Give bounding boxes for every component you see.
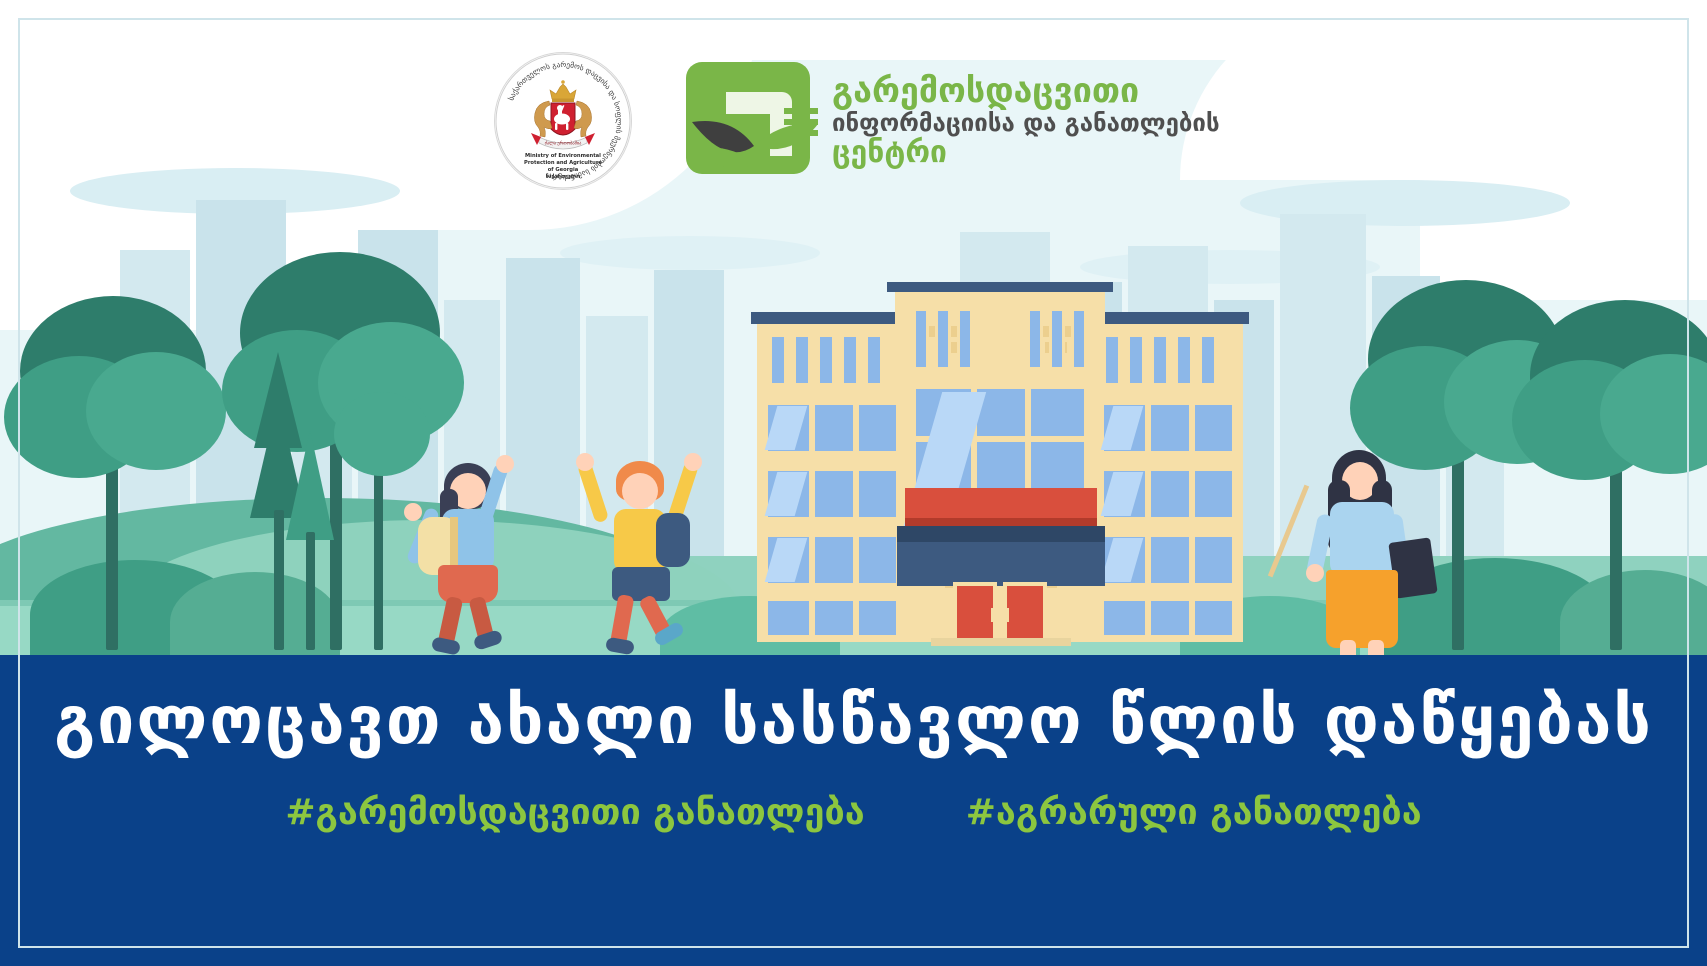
- school-window: [769, 334, 787, 386]
- school-window: [957, 308, 973, 370]
- portico-shadow: [897, 526, 1105, 542]
- window-mullion: [809, 534, 815, 586]
- poster-headline: გილოცავთ ახალი სასწავლო წლის დაწყებას: [0, 686, 1707, 755]
- school-window: [1127, 334, 1145, 386]
- school-window: [1071, 308, 1087, 370]
- window-mullion: [1145, 534, 1151, 586]
- teacher-with-folder: [1300, 440, 1470, 660]
- window-mullion: [853, 468, 859, 520]
- center-logo: გარემოსდაცვითი ინფორმაციისა და განათლები…: [686, 56, 1116, 184]
- window-mullion: [809, 402, 815, 454]
- school-window: [817, 334, 835, 386]
- entrance-steps: [931, 638, 1071, 646]
- window-mullion: [809, 598, 815, 638]
- boy-backpack: [656, 513, 690, 567]
- boy-hand-right: [684, 453, 702, 471]
- conifer-tree: [286, 430, 334, 540]
- svg-text:საქართველო: საქართველო: [546, 173, 580, 180]
- tree-trunk: [306, 532, 315, 650]
- cloud-band-3: [560, 236, 820, 270]
- window-mullion: [809, 468, 815, 520]
- school-window: [935, 308, 951, 370]
- window-mullion: [1189, 468, 1195, 520]
- window-mullion: [853, 598, 859, 638]
- girl-backpack-strap: [450, 517, 458, 567]
- boy-face: [622, 473, 658, 509]
- school-window: [865, 334, 883, 386]
- poster-canvas: საქართველოს გარემოს დაცვისა და სოფლის მე…: [0, 0, 1707, 966]
- logo-line-1: გარემოსდაცვითი: [832, 74, 1122, 108]
- student-boy-waving: [560, 455, 720, 655]
- entrance-awning: [905, 488, 1097, 522]
- boy-shoe: [605, 637, 635, 656]
- door-handle: [1005, 608, 1009, 622]
- school-window: [1101, 598, 1235, 638]
- girl-hand-left: [404, 503, 422, 521]
- hashtag-environmental-education: #გარემოსდაცვითი განათლება: [285, 792, 864, 833]
- school-window: [1175, 334, 1193, 386]
- school-window: [1151, 334, 1169, 386]
- window-mullion: [1189, 598, 1195, 638]
- school-window: [1049, 308, 1065, 370]
- student-girl-waving: [390, 455, 540, 655]
- svg-text:of Georgia: of Georgia: [548, 167, 579, 173]
- window-mullion: [1145, 468, 1151, 520]
- window-mullion: [1189, 534, 1195, 586]
- boy-hand-left: [576, 453, 594, 471]
- school-window: [765, 598, 899, 638]
- window-mullion: [1145, 598, 1151, 638]
- logo-text-block: გარემოსდაცვითი ინფორმაციისა და განათლები…: [832, 74, 1122, 168]
- girl-hand: [496, 455, 514, 473]
- window-mullion: [1145, 402, 1151, 454]
- girl-shoe: [431, 636, 461, 656]
- window-mullion: [853, 402, 859, 454]
- school-left-roof: [751, 312, 913, 324]
- entrance-awning-shadow: [905, 518, 1097, 526]
- teacher-blouse: [1330, 502, 1394, 576]
- school-window: [913, 308, 929, 370]
- school-window: [841, 334, 859, 386]
- school-window: [1027, 308, 1043, 370]
- tree-crown: [86, 352, 226, 470]
- hashtag-row: #გარემოსდაცვითი განათლება #აგრარული განა…: [0, 792, 1707, 833]
- ministry-emblem: საქართველოს გარემოს დაცვისა და სოფლის მე…: [494, 52, 632, 190]
- hashtag-agrarian-education: #აგრარული განათლება: [966, 792, 1422, 833]
- svg-text:Protection and Agriculture: Protection and Agriculture: [524, 160, 602, 166]
- svg-text:ძალა ერთობაშია: ძალა ერთობაშია: [545, 140, 583, 147]
- teacher-skirt: [1326, 570, 1398, 648]
- svg-text:Ministry of Environmental: Ministry of Environmental: [525, 153, 601, 159]
- logo-line-2: ინფორმაციისა და განათლების: [832, 110, 1122, 138]
- school-window: [793, 334, 811, 386]
- tree-trunk: [274, 510, 284, 650]
- school-window: [1199, 334, 1217, 386]
- school-building: [735, 282, 1265, 642]
- logo-mark-icon: [686, 56, 826, 180]
- school-center-roof: [887, 282, 1113, 292]
- teacher-hand-left: [1306, 564, 1324, 582]
- entrance-door: [1003, 582, 1047, 642]
- window-mullion: [1189, 402, 1195, 454]
- school-window: [1103, 334, 1121, 386]
- school-right-roof: [1087, 312, 1249, 324]
- door-handle: [991, 608, 995, 622]
- girl-skirt: [438, 565, 498, 603]
- window-mullion: [853, 534, 859, 586]
- logo-line-3: ცენტრი: [832, 138, 1122, 168]
